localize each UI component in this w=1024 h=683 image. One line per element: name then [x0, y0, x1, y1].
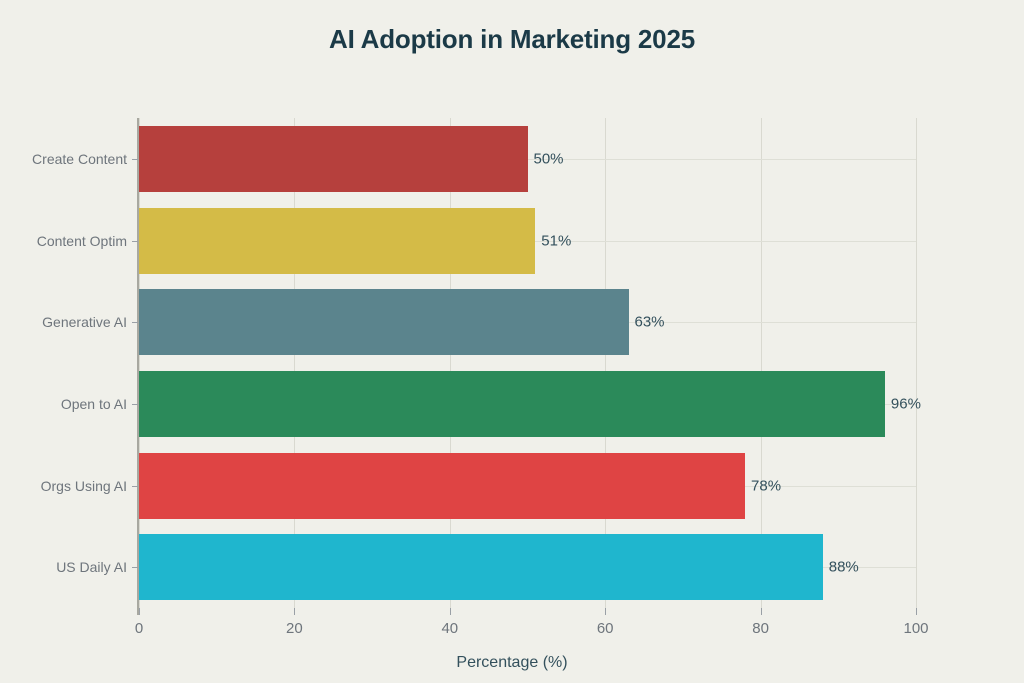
- plot-area: 50%51%63%96%78%88%: [139, 118, 916, 608]
- y-tick-label-create-content: Create Content: [32, 151, 127, 167]
- bar-value-label: 63%: [635, 314, 665, 331]
- chart-figure: AI Adoption in Marketing 2025 50%51%63%9…: [0, 0, 1024, 683]
- bar-us-daily-ai[interactable]: [139, 534, 823, 600]
- x-tick-label: 80: [752, 620, 769, 637]
- bar-value-label: 96%: [891, 395, 921, 412]
- y-tick-label-orgs-using-ai: Orgs Using AI: [41, 478, 127, 494]
- bar-value-label: 50%: [534, 150, 564, 167]
- y-tick-mark: [132, 567, 138, 568]
- bar-generative-ai[interactable]: [139, 289, 629, 355]
- x-tick-label: 60: [597, 620, 614, 637]
- bar-value-label: 78%: [751, 477, 781, 494]
- x-tick-label: 100: [903, 620, 928, 637]
- x-tick-mark: [450, 608, 451, 615]
- y-tick-label-us-daily-ai: US Daily AI: [56, 559, 127, 575]
- chart-title: AI Adoption in Marketing 2025: [0, 24, 1024, 55]
- bar-content-optim[interactable]: [139, 208, 535, 274]
- x-tick-mark: [139, 608, 140, 615]
- x-tick-mark: [605, 608, 606, 615]
- y-tick-mark: [132, 241, 138, 242]
- x-tick-label: 40: [441, 620, 458, 637]
- x-axis-title: Percentage (%): [0, 654, 1024, 672]
- bar-create-content[interactable]: [139, 126, 528, 192]
- y-tick-mark: [132, 322, 138, 323]
- vertical-gridline: [916, 118, 917, 608]
- x-tick-label: 0: [135, 620, 143, 637]
- x-tick-mark: [294, 608, 295, 615]
- bar-open-to-ai[interactable]: [139, 371, 885, 437]
- y-tick-label-generative-ai: Generative AI: [42, 314, 127, 330]
- x-tick-mark: [761, 608, 762, 615]
- y-tick-label-content-optim: Content Optim: [37, 233, 127, 249]
- x-tick-label: 20: [286, 620, 303, 637]
- bar-value-label: 51%: [541, 232, 571, 249]
- y-tick-mark: [132, 486, 138, 487]
- bar-value-label: 88%: [829, 559, 859, 576]
- y-tick-label-open-to-ai: Open to AI: [61, 396, 127, 412]
- y-tick-mark: [132, 159, 138, 160]
- y-tick-mark: [132, 404, 138, 405]
- x-tick-mark: [916, 608, 917, 615]
- bar-orgs-using-ai[interactable]: [139, 453, 745, 519]
